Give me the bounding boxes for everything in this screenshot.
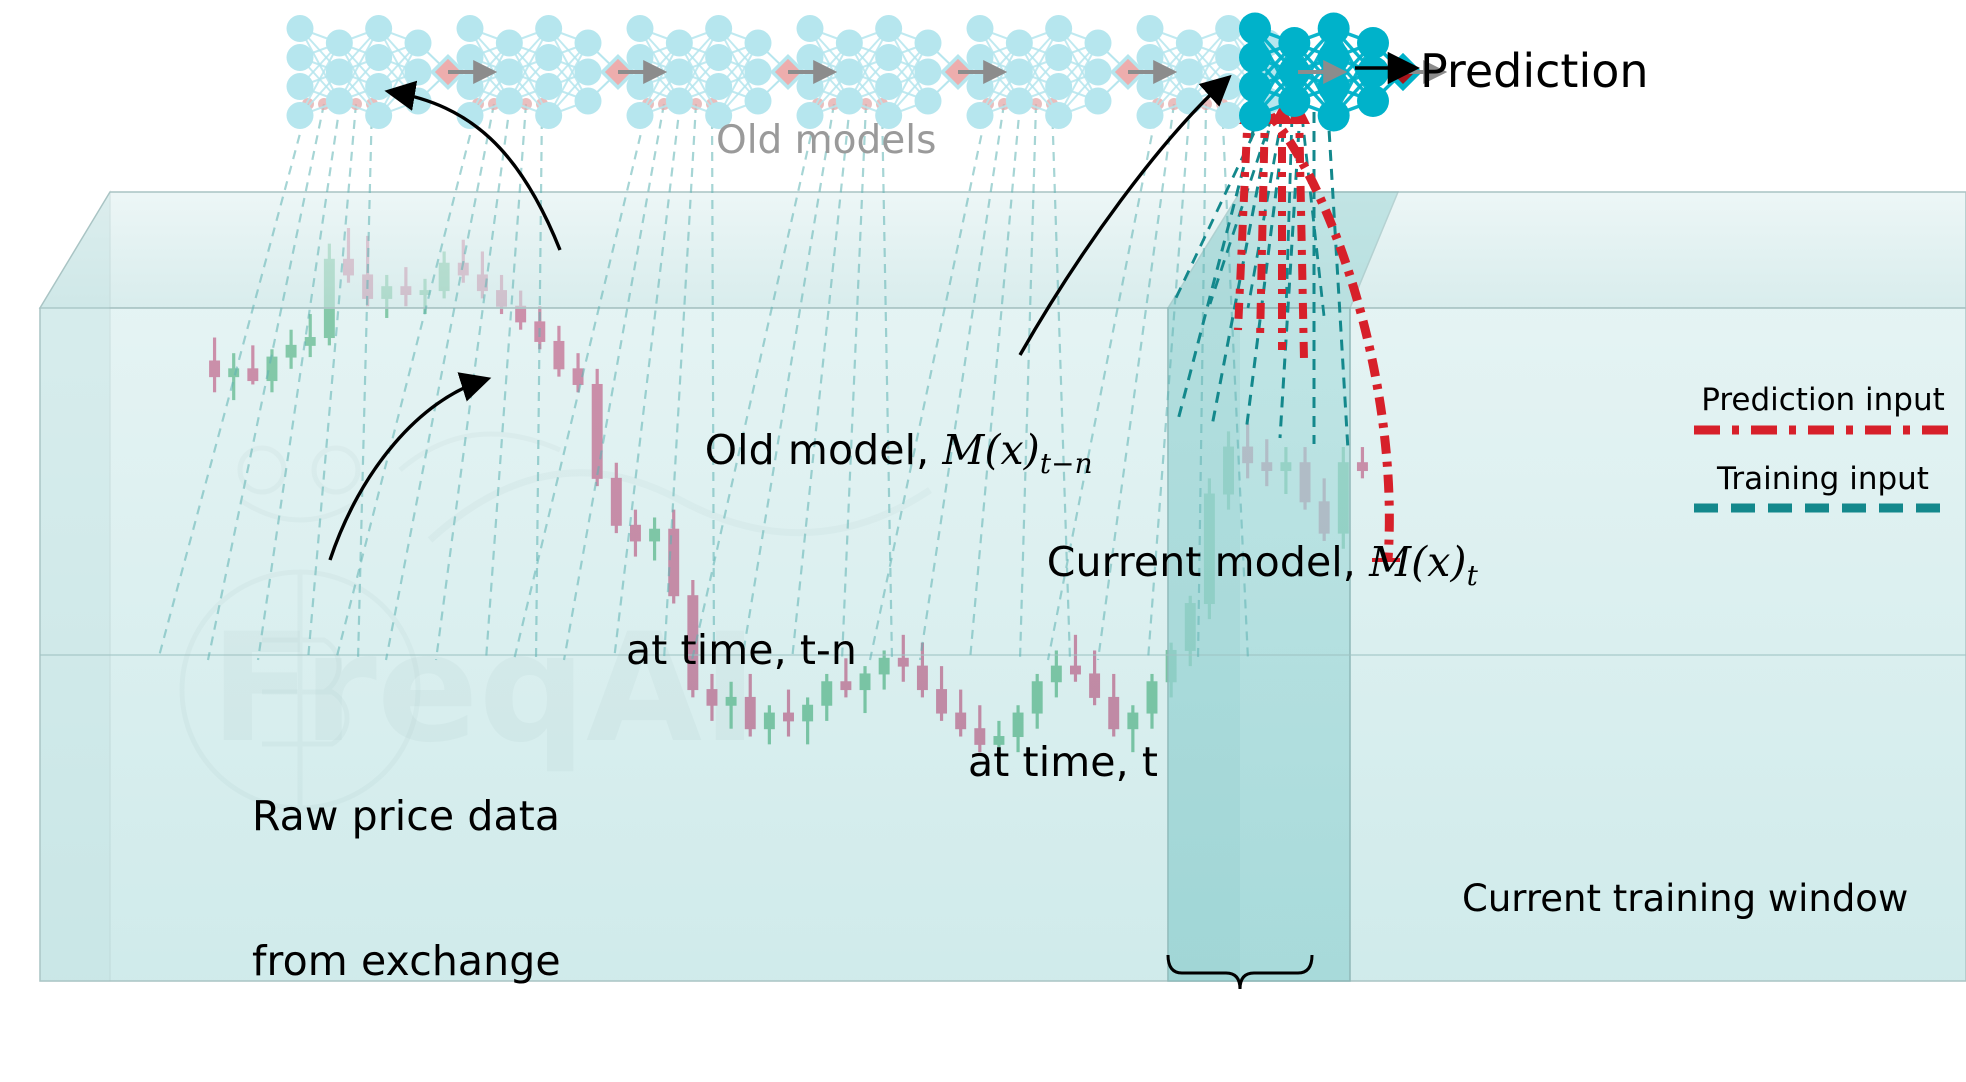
legend-item-prediction-input-label: Prediction input [1688, 382, 1958, 419]
diagram-canvas: FreqAI [0, 0, 1966, 981]
annotation-current-model-math-base: M(x) [1369, 538, 1467, 586]
annotation-current-model-prefix: Current model, [1047, 538, 1369, 586]
leader-raw-price [330, 380, 484, 560]
annotation-raw-price-data: Raw price data from exchange [252, 695, 561, 1082]
training-window-brace [1168, 955, 1312, 989]
current-training-window-label: Current training window [1462, 877, 1908, 921]
annotation-current-model: Current model, M(x)t at time, t [968, 393, 1478, 883]
prediction-label: Prediction [1420, 44, 1649, 98]
annotation-old-model-prefix: Old model, [705, 426, 943, 474]
annotation-current-model-line2: at time, t [968, 738, 1478, 786]
annotation-raw-price-line2: from exchange [252, 937, 561, 985]
leader-old-model [392, 92, 560, 250]
annotation-raw-price-line1: Raw price data [252, 792, 561, 840]
annotation-current-model-math-sub: t [1467, 559, 1478, 592]
legend-swatch-training-input [1688, 497, 1958, 519]
legend: Prediction input Training input [1688, 382, 1958, 523]
old-models-label: Old models [716, 118, 936, 164]
annotation-current-model-line1: Current model, M(x)t [968, 490, 1478, 642]
legend-item-training-input-label: Training input [1688, 461, 1958, 498]
legend-swatch-prediction-input [1688, 419, 1958, 441]
